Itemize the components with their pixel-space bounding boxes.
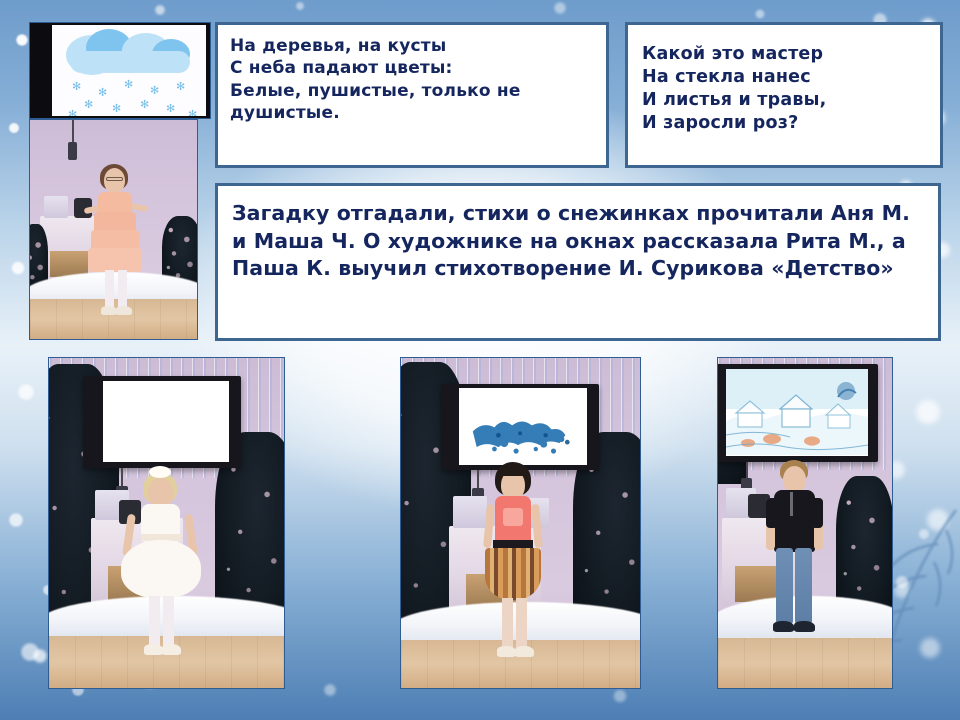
patterned-skirt (485, 548, 541, 600)
projector-screen-winter-village (726, 369, 868, 456)
activity-summary: Загадку отгадали, стихи о снежинках проч… (215, 183, 941, 341)
photo-girl-coral-top (400, 357, 641, 689)
riddle-about-frost: Какой это мастер На стекла нанес И листь… (625, 22, 943, 168)
photo-screen-snow-cloud: ✻ ✻ ✻ ✻ ✻ ✻ ✻ ✻ ✻ ✻ ✻ (29, 22, 211, 119)
projector-screen-frame (441, 384, 599, 470)
projector-screen-frame (717, 364, 878, 462)
riddle-about-snowflakes: На деревья, на кусты С неба падают цветы… (215, 22, 609, 168)
photo-girl-white-dress (48, 357, 285, 689)
photo-girl-peach-dress (29, 119, 198, 340)
projector-screen-blank (103, 381, 229, 462)
presentation-slide: ✻ ✻ ✻ ✻ ✻ ✻ ✻ ✻ ✻ ✻ ✻ (0, 0, 960, 720)
frost-pattern-artwork (459, 388, 587, 465)
projector-screen-frost-pattern (459, 388, 587, 465)
winter-village-artwork (726, 369, 868, 456)
photo-boy-black-polo (717, 357, 893, 689)
cloud-snowflakes-artwork: ✻ ✻ ✻ ✻ ✻ ✻ ✻ ✻ ✻ ✻ ✻ (52, 25, 206, 116)
projector-screen-frame (83, 376, 241, 468)
